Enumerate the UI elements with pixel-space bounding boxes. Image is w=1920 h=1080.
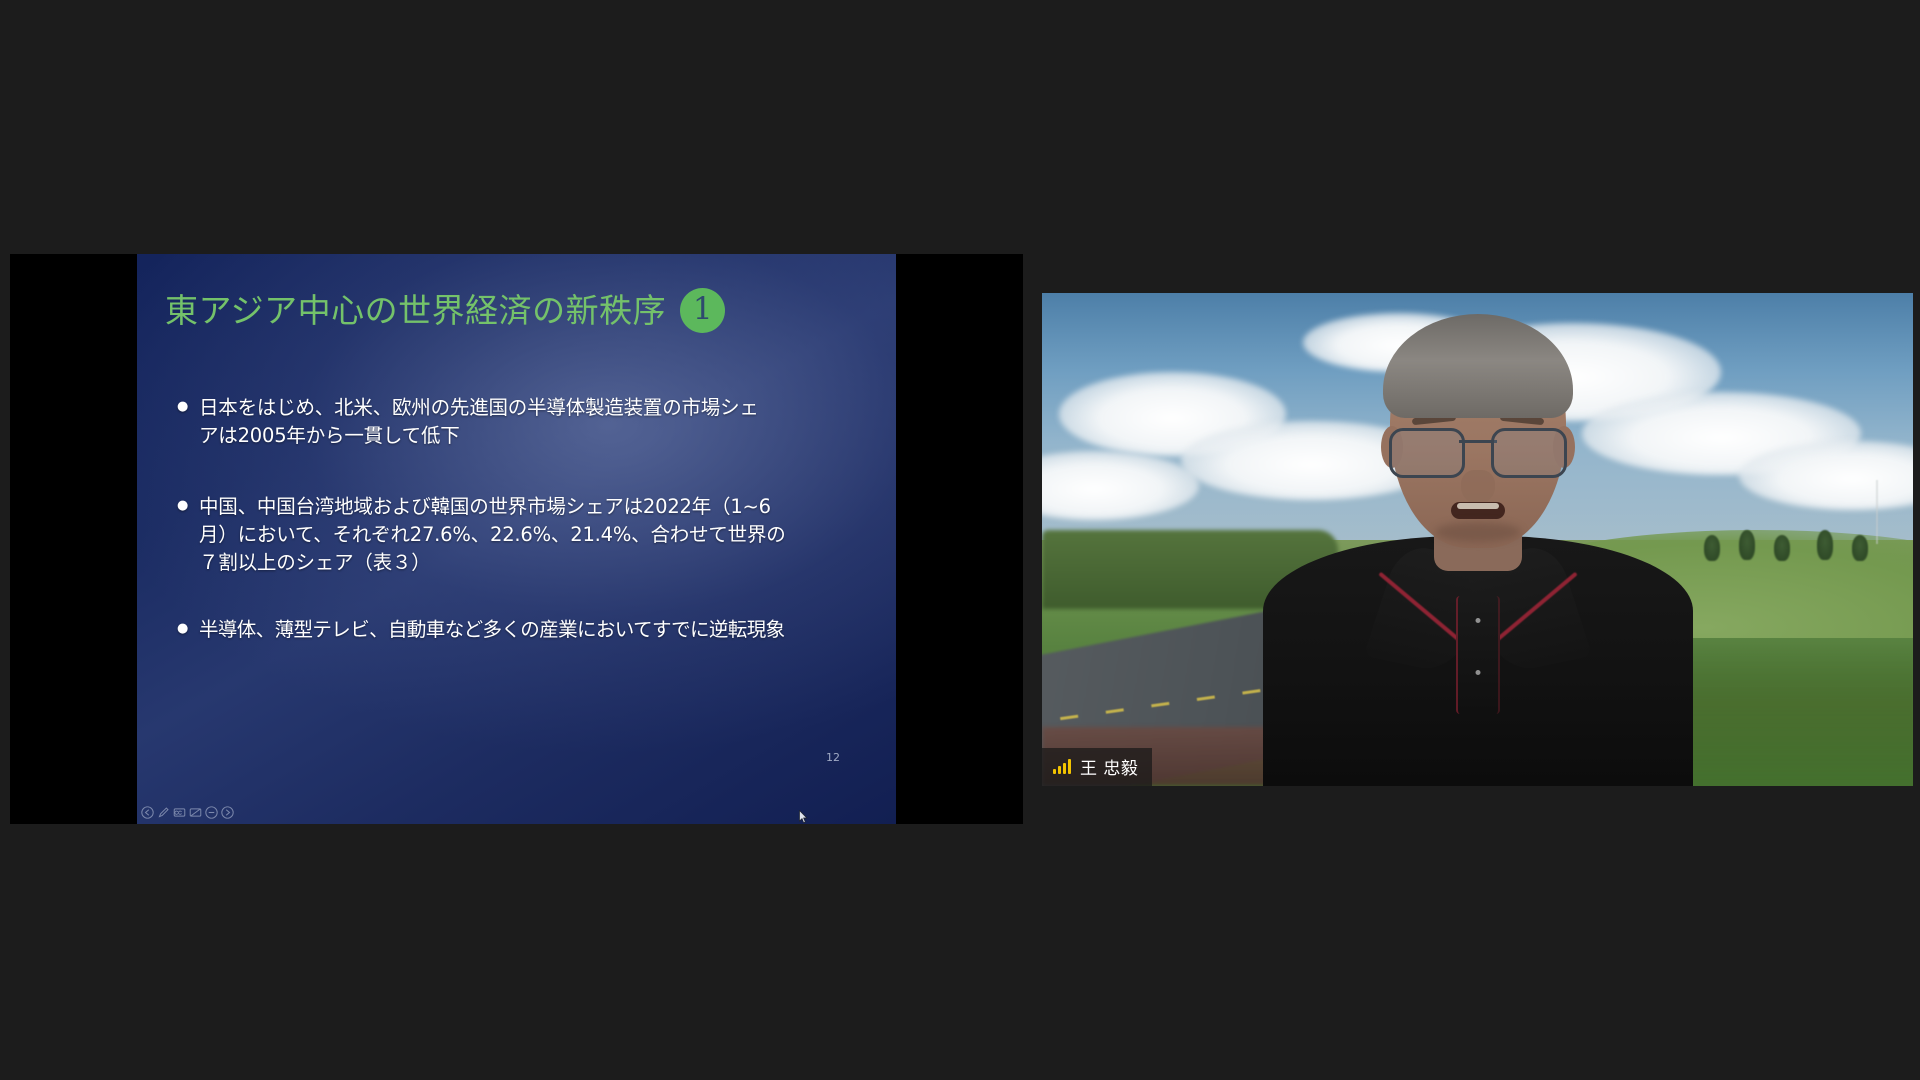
presentation-slide[interactable]: 東アジア中心の世界経済の新秩序 1 日本をはじめ、北米、欧州の先進国の半導体製造… [137, 254, 896, 824]
mouse-cursor-icon [799, 810, 808, 824]
tree-shape [1704, 535, 1720, 561]
eyeglasses-icon [1389, 428, 1567, 474]
bullet-line: 日本をはじめ、北米、欧州の先進国の半導体製造装置の市場シェ [199, 394, 867, 422]
bullet-line: 中国、中国台湾地域および韓国の世界市場シェアは2022年（1~6 [199, 493, 867, 521]
lens-left [1389, 428, 1465, 478]
shirt-button [1475, 670, 1480, 675]
presentation-toolbar[interactable] [137, 804, 238, 821]
pen-icon[interactable] [157, 806, 170, 819]
menu-icon[interactable] [205, 806, 218, 819]
bullet-line: アは2005年から一貫して低下 [199, 422, 867, 450]
previous-slide-icon[interactable] [141, 806, 154, 819]
signal-strength-icon [1053, 759, 1071, 774]
slide-title-row: 東アジア中心の世界経済の新秩序 1 [165, 288, 725, 333]
tree-shape [1852, 535, 1868, 561]
tree-shape [1817, 530, 1833, 560]
meeting-screen-share-view: 東アジア中心の世界経済の新秩序 1 日本をはじめ、北米、欧州の先進国の半導体製造… [0, 0, 1920, 1080]
participant-name-badge: 王 忠毅 [1042, 748, 1152, 786]
tree-shape [1739, 530, 1755, 560]
lens-right [1491, 428, 1567, 478]
slide-bullet-list: 日本をはじめ、北米、欧州の先進国の半導体製造装置の市場シェ アは2005年から一… [177, 394, 867, 688]
chin-shadow [1435, 522, 1521, 542]
fence-post-shape [1876, 480, 1878, 544]
list-item: 日本をはじめ、北米、欧州の先進国の半導体製造装置の市場シェ アは2005年から一… [177, 394, 867, 449]
shirt-placket [1456, 596, 1500, 714]
participant-figure [1263, 366, 1693, 786]
shirt-button [1475, 618, 1480, 623]
bullet-line: 月）において、それぞれ27.6%、22.6%、21.4%、合わせて世界の [199, 521, 867, 549]
next-slide-icon[interactable] [221, 806, 234, 819]
list-item: 中国、中国台湾地域および韓国の世界市場シェアは2022年（1~6 月）において、… [177, 493, 867, 576]
list-item: 半導体、薄型テレビ、自動車など多くの産業においてすでに逆転現象 [177, 616, 867, 644]
slide-page-number: 12 [826, 751, 840, 764]
participant-video-tile[interactable]: 王 忠毅 [1042, 293, 1913, 786]
participant-name-label: 王 忠毅 [1080, 754, 1138, 779]
teeth-shape [1457, 503, 1499, 509]
captions-icon[interactable] [173, 806, 186, 819]
page-title: 東アジア中心の世界経済の新秩序 [165, 294, 666, 327]
mouth-shape [1451, 502, 1505, 519]
blank-screen-icon[interactable] [189, 806, 202, 819]
nose-shape [1461, 470, 1495, 504]
bullet-line: ７割以上のシェア（表３） [199, 549, 867, 577]
circled-number-one-icon: 1 [680, 288, 725, 333]
tree-shape [1774, 535, 1790, 561]
bullet-line: 半導体、薄型テレビ、自動車など多くの産業においてすでに逆転現象 [199, 616, 867, 644]
shared-screen-letterbox[interactable]: 東アジア中心の世界経済の新秩序 1 日本をはじめ、北米、欧州の先進国の半導体製造… [10, 254, 1023, 824]
